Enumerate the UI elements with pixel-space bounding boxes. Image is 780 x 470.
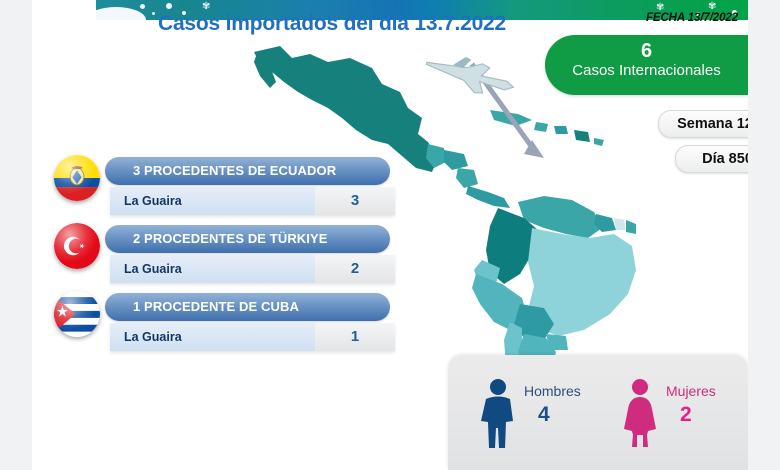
international-cases-box: 6 Casos Internacionales [545, 35, 748, 95]
card-heading: 2 PROCEDENTES DE TÜRKIYE [105, 225, 390, 253]
card-heading: 1 PROCEDENTE DE CUBA [105, 293, 390, 321]
virus-icon: ✾ [202, 2, 210, 12]
female-count: 2 [666, 401, 748, 429]
international-count: 6 [545, 35, 748, 62]
day-pill: Día 850 [675, 145, 748, 173]
infographic-page: ✾ ✾ ✾ Casos importados del día 13.7.2022… [32, 0, 748, 470]
international-label: Casos Internacionales [545, 62, 748, 80]
banner-dot [166, 3, 172, 9]
state-count: 1 [315, 323, 395, 351]
male-label: Hombres [524, 381, 614, 401]
virus-icon: ✾ [708, 2, 716, 12]
turkey-flag-icon [54, 223, 100, 269]
list-item: 2 PROCEDENTES DE TÜRKIYE La Guaira 2 [50, 225, 395, 293]
cuba-flag-icon [54, 291, 100, 337]
state-name: La Guaira [124, 187, 182, 215]
state-count: 3 [315, 187, 395, 215]
table-row: La Guaira 3 [110, 187, 395, 215]
week-pill: Semana 122 [658, 110, 748, 138]
male-figure-icon [478, 377, 518, 449]
female-text-group: Mujeres 2 [666, 381, 748, 429]
ecuador-flag-icon [54, 155, 100, 201]
list-item: 3 PROCEDENTES DE ECUADOR La Guaira 3 [50, 157, 395, 225]
female-figure-icon [620, 377, 660, 449]
table-row: La Guaira 1 [110, 323, 395, 351]
airplane-icon [422, 47, 517, 103]
banner-dot [140, 4, 145, 9]
card-heading-text: 3 PROCEDENTES DE ECUADOR [105, 157, 390, 185]
state-name: La Guaira [124, 255, 182, 283]
male-count: 4 [524, 401, 614, 429]
female-label: Mujeres [666, 381, 748, 401]
origin-cards-list: 3 PROCEDENTES DE ECUADOR La Guaira 3 2 P… [50, 157, 395, 361]
card-heading: 3 PROCEDENTES DE ECUADOR [105, 157, 390, 185]
fecha-label: FECHA 13/7/2022 [646, 12, 738, 24]
gender-breakdown-panel: Hombres 4 Mujeres 2 [448, 355, 748, 470]
card-heading-text: 1 PROCEDENTE DE CUBA [105, 293, 390, 321]
table-row: La Guaira 2 [110, 255, 395, 283]
state-count: 2 [315, 255, 395, 283]
list-item: 1 PROCEDENTE DE CUBA La Guaira 1 [50, 293, 395, 361]
card-heading-text: 2 PROCEDENTES DE TÜRKIYE [105, 225, 390, 253]
male-text-group: Hombres 4 [524, 381, 614, 429]
state-name: La Guaira [124, 323, 182, 351]
